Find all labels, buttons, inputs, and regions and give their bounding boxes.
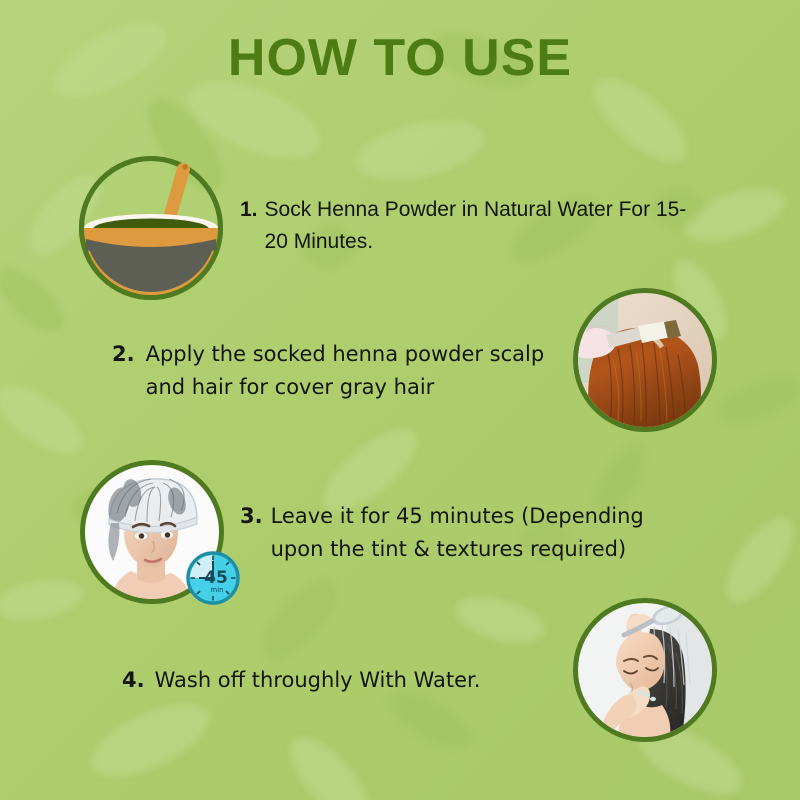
timer-value: 45 [204, 568, 228, 588]
step-3-number: 3. [240, 500, 263, 533]
step-1-illustration-bowl [79, 156, 223, 300]
page-title: HOW TO USE [0, 28, 800, 88]
timer-unit: min [210, 586, 223, 594]
step-2-number: 2. [112, 338, 135, 371]
step-3: 3. Leave it for 45 minutes (Depending up… [240, 500, 700, 566]
step-3-text: Leave it for 45 minutes (Depending upon … [271, 500, 700, 566]
step-4-photo-rinsing-shower [573, 598, 717, 742]
step-4: 4. Wash off throughly With Water. [122, 664, 572, 697]
step-4-number: 4. [122, 664, 145, 697]
step-1-number: 1. [240, 194, 258, 226]
step-1-text: Sock Henna Powder in Natural Water For 1… [265, 194, 700, 258]
step-1: 1. Sock Henna Powder in Natural Water Fo… [240, 194, 700, 258]
step-2-photo-applying-henna [573, 288, 717, 432]
step-2-text: Apply the socked henna powder scalp and … [146, 338, 562, 404]
timer-badge-45-min: 45 min [186, 551, 240, 605]
step-4-text: Wash off throughly With Water. [155, 664, 481, 697]
step-2: 2. Apply the socked henna powder scalp a… [112, 338, 562, 404]
